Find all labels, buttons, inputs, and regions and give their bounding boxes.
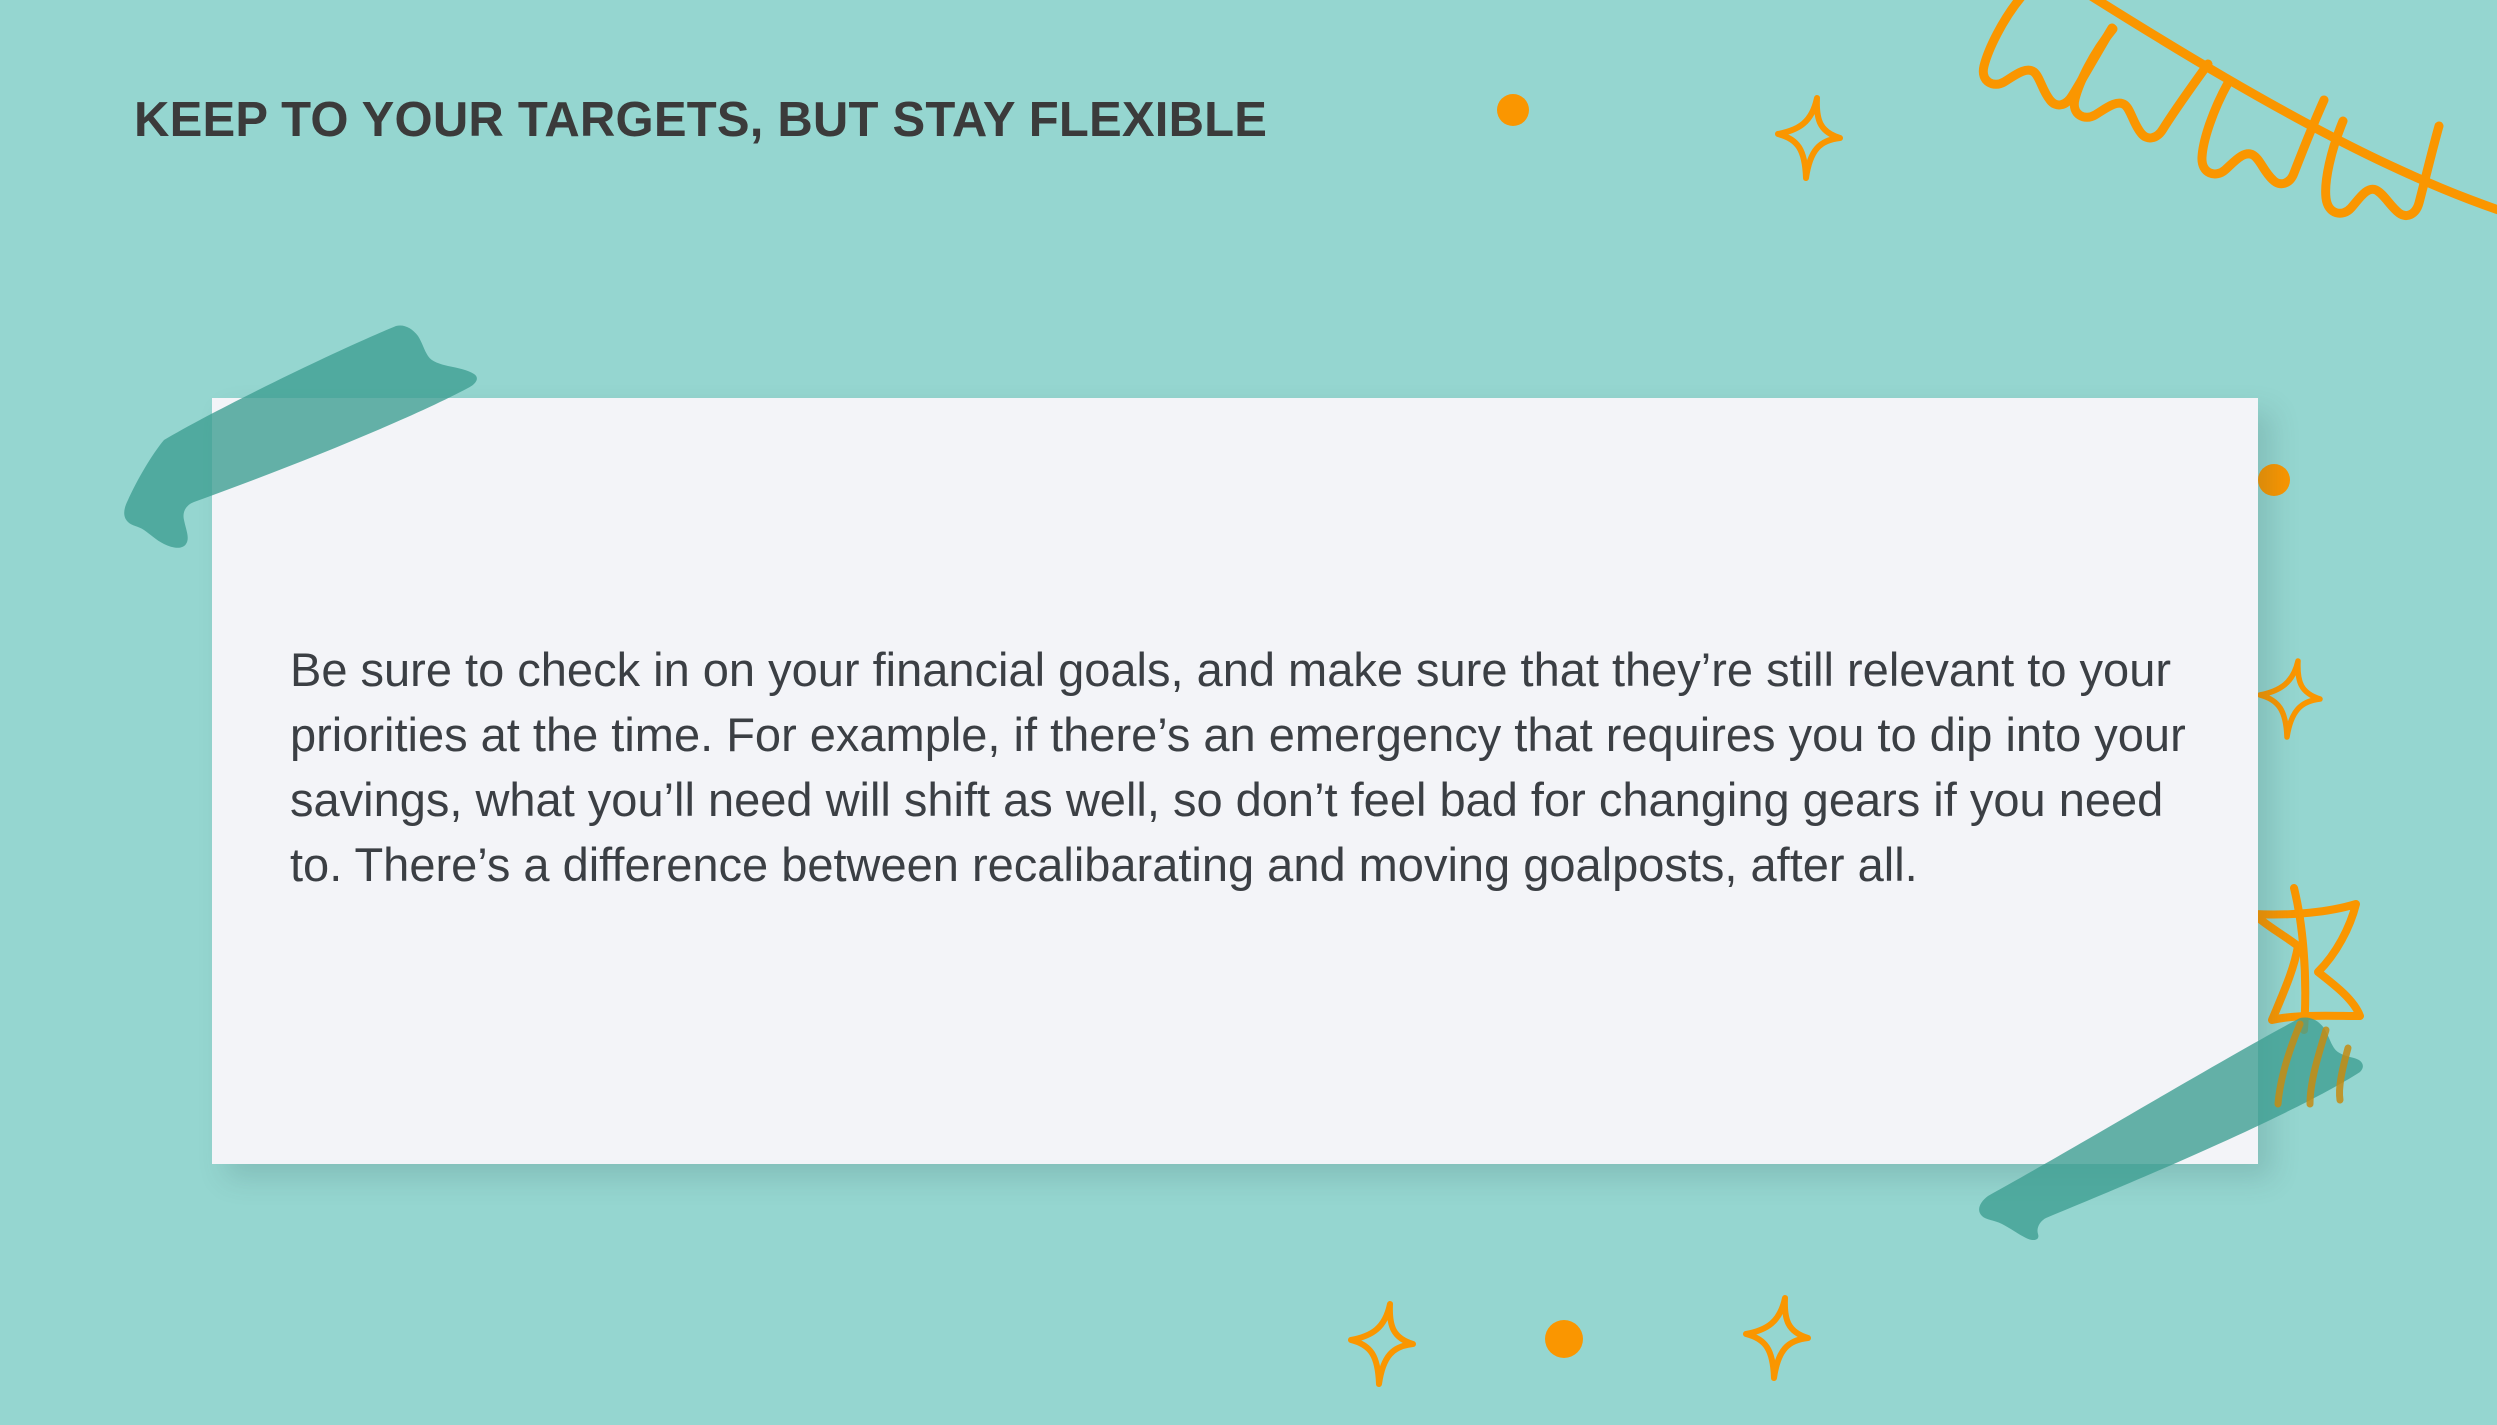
dot-bottom-center <box>1545 1320 1583 1358</box>
dot-right-edge <box>2258 464 2290 496</box>
slide-canvas: Be sure to check in on your financial go… <box>0 0 2497 1425</box>
bunting-garland-icon <box>1960 0 2497 320</box>
body-paragraph: Be sure to check in on your financial go… <box>290 637 2190 897</box>
tape-top-left <box>108 322 528 602</box>
dot-title <box>1497 94 1529 126</box>
sparkle-top-right-icon <box>1772 92 1848 184</box>
tape-bottom-right <box>1948 1000 2368 1240</box>
sparkle-bottom-right-icon <box>1740 1292 1816 1384</box>
page-title: KEEP TO YOUR TARGETS, BUT STAY FLEXIBLE <box>134 92 1267 148</box>
sparkle-right-edge-icon <box>2255 655 2327 743</box>
sparkle-bottom-left-icon <box>1345 1298 1421 1390</box>
